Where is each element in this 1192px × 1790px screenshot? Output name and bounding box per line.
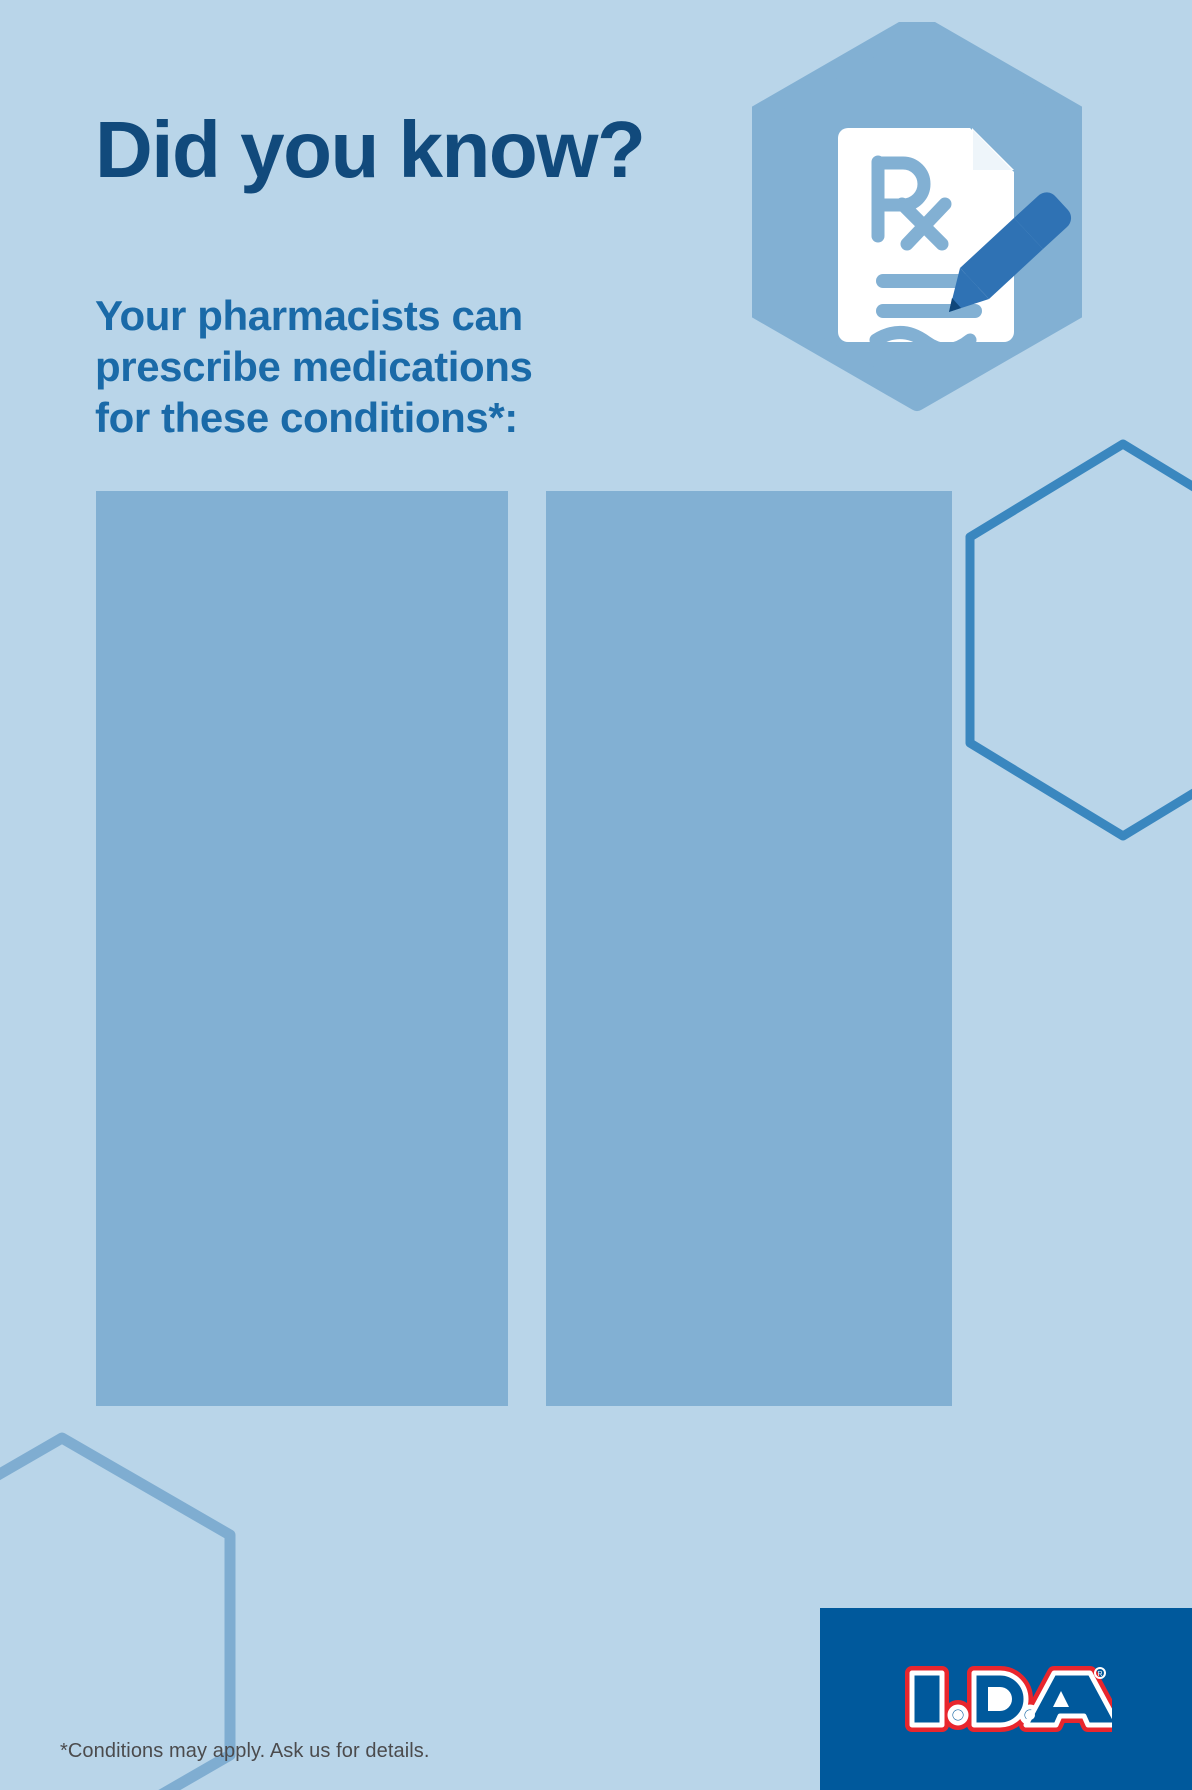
conditions-panel-right [546, 491, 952, 1406]
ida-logo: R [900, 1655, 1112, 1743]
disclaimer-text: *Conditions may apply. Ask us for detail… [60, 1740, 430, 1763]
svg-text:R: R [1097, 1671, 1102, 1678]
conditions-panel-left [96, 491, 508, 1406]
rx-prescription-badge [752, 22, 1082, 426]
ida-logo-box: R [820, 1608, 1192, 1790]
poster-canvas: Did you know? Your pharmacists can presc… [0, 0, 1192, 1790]
subtitle-block: Your pharmacists can prescribe medicatio… [95, 290, 532, 444]
subtitle-line-3: for these conditions*: [95, 392, 532, 443]
rx-document-icon [838, 128, 1014, 350]
page-title: Did you know? [95, 110, 644, 190]
subtitle-line-2: prescribe medications [95, 341, 532, 392]
subtitle-line-1: Your pharmacists can [95, 290, 532, 341]
hexagon-outline-bottom-left-decoration [0, 1430, 242, 1790]
hexagon-outline-right-decoration [958, 438, 1192, 842]
